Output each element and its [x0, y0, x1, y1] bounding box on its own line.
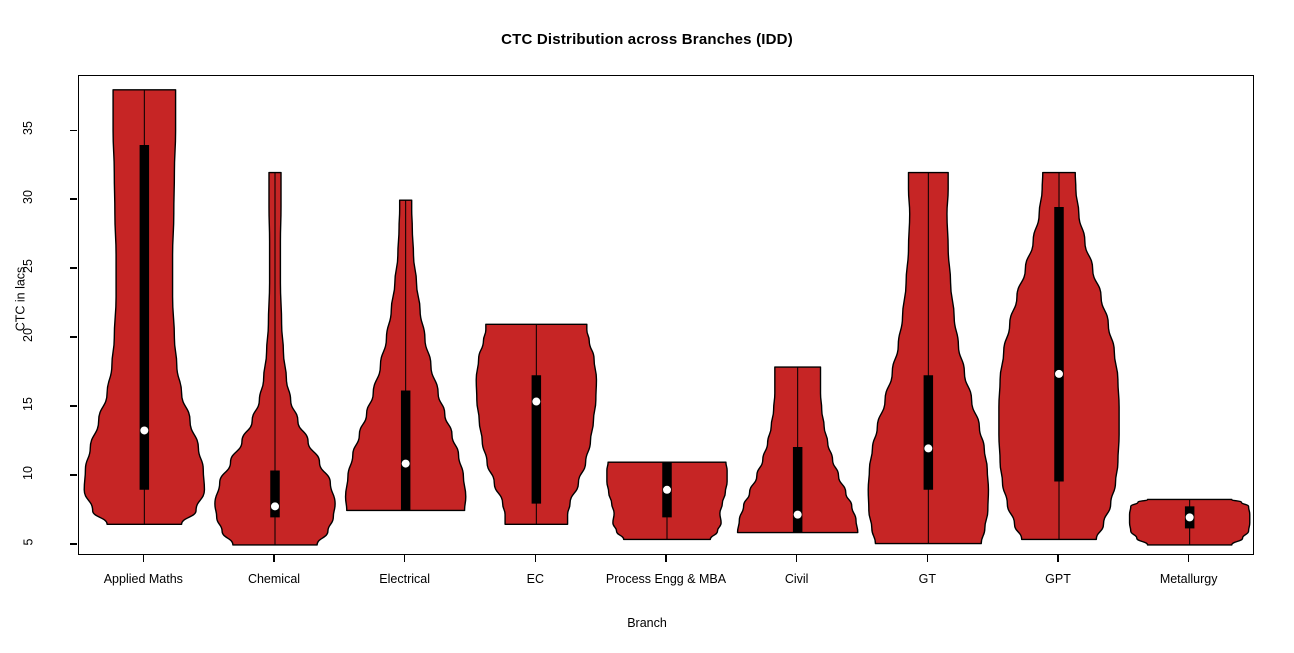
y-axis: CTC in lacs 5101520253035 — [0, 0, 78, 653]
x-tick-label-gpt: GPT — [1045, 572, 1071, 586]
y-tick-label-text: 5 — [21, 538, 35, 545]
violin-applied-maths — [84, 90, 204, 524]
x-tick-mark — [665, 555, 666, 562]
x-tick-label-gt: GT — [919, 572, 936, 586]
y-tick-label-text: 20 — [21, 328, 35, 342]
violin-civil — [738, 367, 858, 533]
x-tick-label-ec: EC — [527, 572, 544, 586]
y-tick-label-text: 15 — [21, 397, 35, 411]
y-tick-mark — [70, 198, 77, 199]
chart-canvas: CTC Distribution across Branches (IDD) C… — [0, 0, 1294, 653]
x-axis-title: Branch — [0, 616, 1294, 630]
violin-electrical — [346, 200, 466, 510]
violin-process-engg-mba — [607, 462, 727, 539]
violin-gpt — [999, 173, 1119, 540]
x-tick-label-chemical: Chemical — [248, 572, 300, 586]
y-tick-label: 5 — [0, 535, 56, 549]
chart-title: CTC Distribution across Branches (IDD) — [0, 31, 1294, 48]
violin-gt — [868, 173, 988, 544]
violin-median-marker — [1186, 513, 1194, 521]
x-tick-mark — [796, 555, 797, 562]
y-tick-mark — [70, 336, 77, 337]
plot-area — [78, 75, 1254, 555]
y-axis-title-text: CTC in lacs — [13, 267, 27, 332]
x-tick-label-process-engg-mba: Process Engg & MBA — [606, 572, 726, 586]
y-tick-label: 25 — [0, 259, 56, 273]
y-tick-label: 15 — [0, 397, 56, 411]
x-tick-mark — [273, 555, 274, 562]
violin-median-marker — [924, 444, 932, 452]
y-tick-label-text: 35 — [21, 121, 35, 135]
violin-median-marker — [794, 511, 802, 519]
x-tick-label-electrical: Electrical — [379, 572, 430, 586]
y-axis-title: CTC in lacs — [0, 292, 70, 306]
y-tick-mark — [70, 267, 77, 268]
y-tick-label: 10 — [0, 466, 56, 480]
y-tick-label: 35 — [0, 121, 56, 135]
violin-median-marker — [532, 398, 540, 406]
y-tick-label: 20 — [0, 328, 56, 342]
violin-median-marker — [1055, 370, 1063, 378]
violin-median-marker — [402, 460, 410, 468]
x-tick-label-civil: Civil — [785, 572, 809, 586]
x-tick-mark — [535, 555, 536, 562]
x-tick-label-metallurgy: Metallurgy — [1160, 572, 1218, 586]
y-tick-label-text: 25 — [21, 259, 35, 273]
violin-median-marker — [140, 426, 148, 434]
x-tick-mark — [404, 555, 405, 562]
violin-plot-svg — [79, 76, 1255, 556]
violin-median-marker — [271, 502, 279, 510]
violin-median-marker — [663, 486, 671, 494]
x-tick-mark — [1188, 555, 1189, 562]
y-tick-label: 30 — [0, 190, 56, 204]
violin-chemical — [215, 173, 335, 545]
y-tick-label-text: 10 — [21, 466, 35, 480]
y-tick-mark — [70, 474, 77, 475]
violin-metallurgy — [1130, 499, 1250, 545]
violin-ec — [476, 324, 596, 524]
y-tick-mark — [70, 405, 77, 406]
x-tick-mark — [143, 555, 144, 562]
y-tick-mark — [70, 543, 77, 544]
x-tick-mark — [927, 555, 928, 562]
x-tick-mark — [1057, 555, 1058, 562]
y-tick-mark — [70, 130, 77, 131]
y-tick-label-text: 30 — [21, 190, 35, 204]
x-tick-label-applied-maths: Applied Maths — [104, 572, 183, 586]
